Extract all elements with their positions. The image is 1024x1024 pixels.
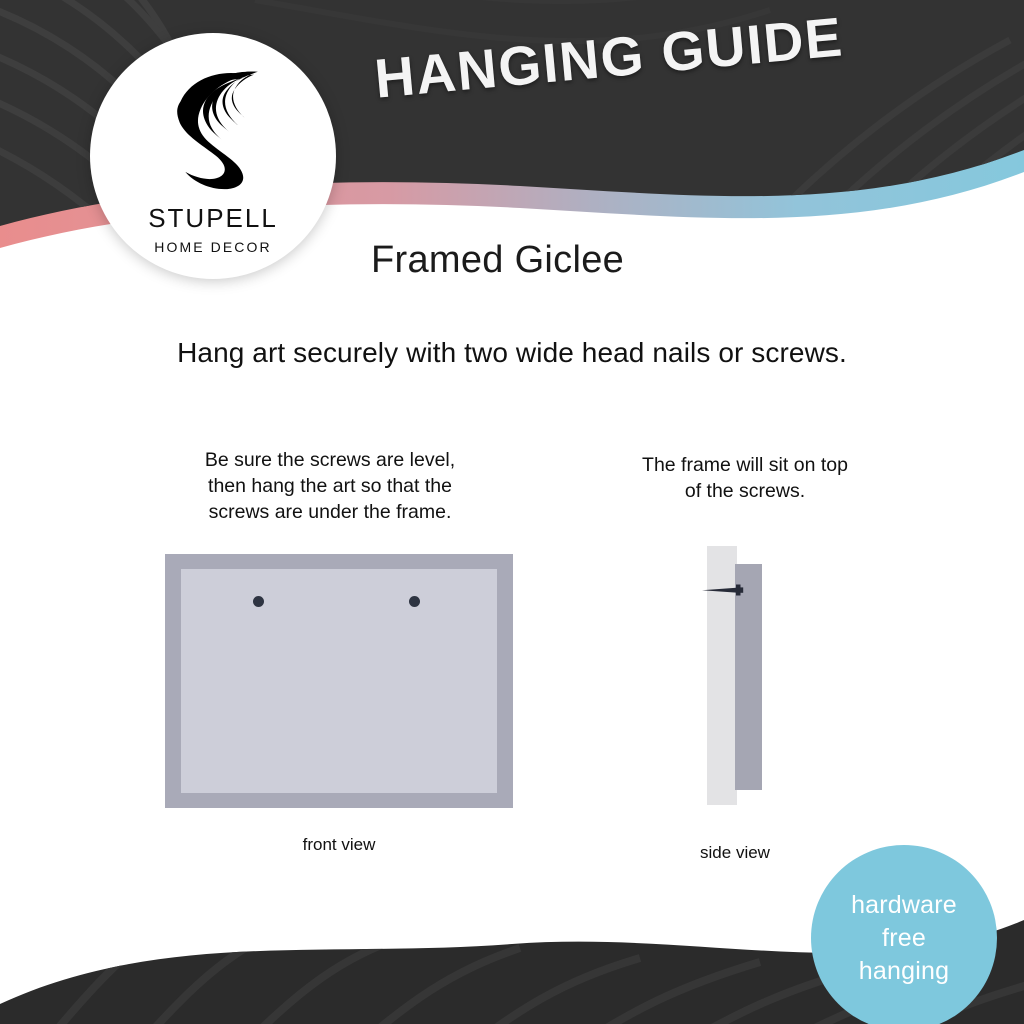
main-instruction-text: Hang art securely with two wide head nai… xyxy=(0,337,1024,369)
front-view-caption: Be sure the screws are level, then hang … xyxy=(180,447,480,525)
hardware-free-hanging-badge: hardware free hanging xyxy=(811,845,997,1024)
side-view-frame xyxy=(735,564,762,790)
brand-logo-badge: STUPELL HOME DECOR xyxy=(90,33,336,279)
front-view-artwork-area xyxy=(181,569,497,793)
front-view-caption-line-2: then hang the art so that the xyxy=(180,473,480,499)
screw-hole-right-icon xyxy=(409,596,420,607)
side-view-caption: The frame will sit on top of the screws. xyxy=(600,452,890,504)
brand-tagline: HOME DECOR xyxy=(154,239,271,255)
badge-line-1: hardware xyxy=(851,889,957,922)
front-view-label: front view xyxy=(180,835,498,855)
front-view-diagram xyxy=(165,554,513,808)
product-type-title: Framed Giclee xyxy=(371,239,624,282)
stupell-s-swoosh-logo-icon xyxy=(151,65,275,193)
badge-line-3: hanging xyxy=(859,955,949,988)
page-title: HANGING GUIDE xyxy=(372,4,846,110)
side-view-caption-line-1: The frame will sit on top xyxy=(600,452,890,478)
front-view-caption-line-3: screws are under the frame. xyxy=(180,499,480,525)
side-view-caption-line-2: of the screws. xyxy=(600,478,890,504)
brand-name: STUPELL xyxy=(148,203,278,234)
screw-hole-left-icon xyxy=(253,596,264,607)
nail-icon xyxy=(702,584,754,596)
hanging-guide-page: STUPELL HOME DECOR HANGING GUIDE Framed … xyxy=(0,0,1024,1024)
badge-line-2: free xyxy=(882,922,926,955)
side-view-label: side view xyxy=(650,843,820,863)
front-view-caption-line-1: Be sure the screws are level, xyxy=(180,447,480,473)
side-view-diagram xyxy=(690,546,780,810)
